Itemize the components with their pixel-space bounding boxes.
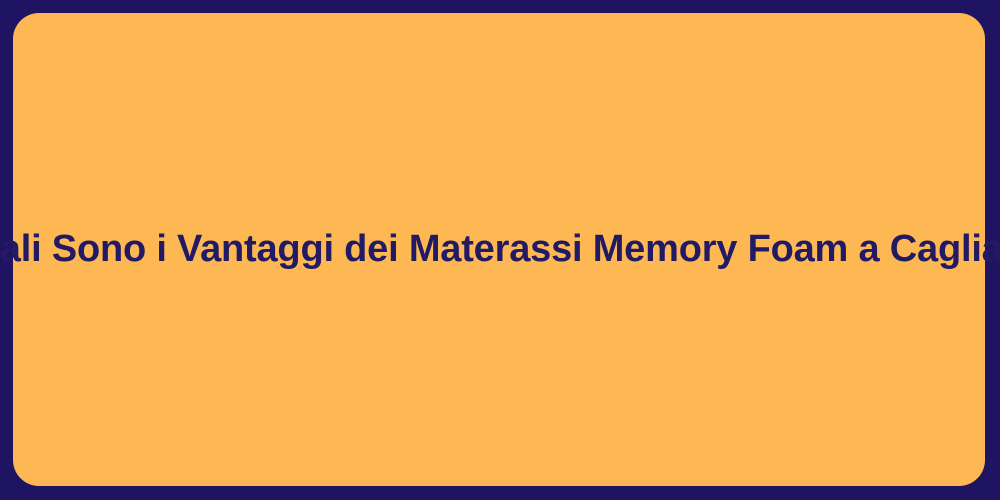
banner-panel: Quali Sono i Vantaggi dei Materassi Memo… bbox=[13, 13, 985, 486]
page-title: Quali Sono i Vantaggi dei Materassi Memo… bbox=[0, 227, 1000, 273]
banner-frame: Quali Sono i Vantaggi dei Materassi Memo… bbox=[0, 0, 1000, 500]
